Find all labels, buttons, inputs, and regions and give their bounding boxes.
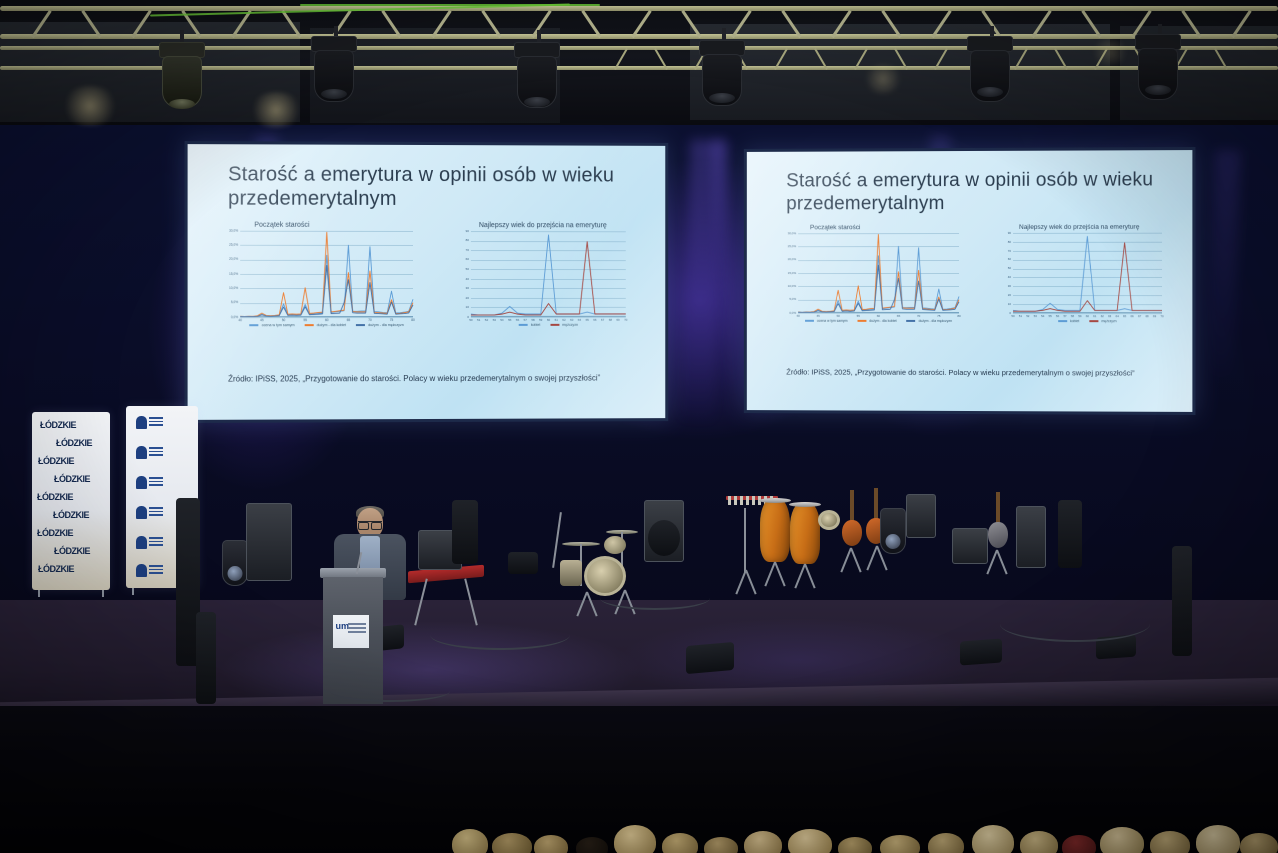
chart-x-tick: 58 (531, 318, 534, 322)
chart-y-tick: 20,0% (229, 257, 238, 261)
chart-x-tick: 45 (260, 318, 264, 322)
chart-x-tick: 60 (325, 318, 329, 322)
chart-y-tick: 80 (466, 238, 469, 242)
conga-drum (790, 502, 820, 564)
light-glow (248, 92, 304, 128)
chart-legend: kobietmężczyzn (471, 323, 626, 327)
chart-legend-item: kobiet (519, 323, 540, 327)
legend-swatch (250, 324, 259, 326)
chart-x-tick: 70 (1160, 314, 1163, 318)
chart-series-group (471, 231, 626, 317)
chart-x-tick: 70 (624, 318, 627, 322)
chart-x-tick: 52 (485, 318, 488, 322)
chart-y-tick: 20 (1008, 293, 1011, 297)
chart-x-tick: 56 (1056, 314, 1059, 318)
audience-head (704, 837, 738, 853)
chart-x-tick: 65 (1123, 314, 1126, 318)
chart-y-tick: 60 (1008, 257, 1011, 261)
lodzkie-logo: ŁÓDZKIE (37, 492, 73, 502)
audience-head (928, 833, 964, 853)
chart-legend-item: kobiet (1058, 319, 1079, 323)
chart-series-line (240, 245, 413, 316)
chart-x-tick: 54 (1041, 314, 1044, 318)
amplifier-stack (952, 528, 988, 564)
chart-y-tick: 10,0% (229, 286, 238, 290)
chart-title: Najlepszy wiek do przejścia na emeryturę (479, 222, 607, 229)
chart-x-tick: 68 (1145, 314, 1148, 318)
legend-swatch (805, 320, 814, 322)
stage-light-fixture (157, 42, 207, 112)
glasses-icon (358, 521, 382, 527)
chart-y-tick: 5,0% (789, 297, 796, 301)
chart-x-tick: 65 (347, 318, 351, 322)
chart-series-line (240, 265, 413, 316)
timbale (818, 510, 840, 530)
chart-series-group (1013, 233, 1162, 314)
legend-label: dużym - dla kobiet (869, 319, 896, 323)
chart-x-tick: 69 (1153, 314, 1156, 318)
floor-cable (1000, 606, 1150, 642)
chart-x-tick: 80 (411, 318, 415, 322)
legend-swatch (550, 324, 559, 326)
chart-x-tick: 65 (897, 314, 900, 318)
chart-x-tick: 63 (1108, 314, 1111, 318)
chart-y-tick: 5,0% (231, 301, 238, 305)
chart-y-tick: 90 (466, 229, 469, 233)
chart-series-group (798, 233, 959, 313)
university-logo (136, 564, 147, 582)
chart-najlepszy-wiek-right: Najlepszy wiek do przejścia na emeryturę… (1013, 233, 1162, 314)
chart-y-tick: 60 (466, 257, 469, 261)
chart-series-line (798, 265, 959, 312)
chart-x-tick: 65 (586, 318, 589, 322)
chart-x-tick: 58 (1071, 314, 1074, 318)
chart-y-tick: 30,0% (788, 231, 796, 235)
audience-head (1020, 831, 1058, 853)
guitar-body (988, 522, 1008, 548)
chart-plot-area: 9080706050403020100505152535455565758596… (471, 231, 626, 317)
chart-legend-item: dużym - dla mężczyzn (907, 319, 952, 323)
audience-head (838, 837, 872, 853)
moving-head-light (880, 508, 906, 554)
legend-swatch (857, 320, 866, 322)
stage-light-fixture (1135, 34, 1181, 98)
chart-x-tick: 64 (1116, 314, 1119, 318)
lodzkie-logo: ŁÓDZKIE (38, 564, 74, 574)
chart-x-tick: 69 (616, 318, 619, 322)
audience-head (576, 837, 608, 853)
stage-monitor (508, 552, 538, 574)
guitar-body (842, 520, 862, 546)
legend-label: kobiet (531, 323, 541, 327)
legend-label: dużym - dla kobiet (317, 323, 346, 327)
stage-light-fixture (967, 36, 1013, 100)
chart-poczatek-starosci-left: Początek starości 30,0%25,0%20,0%15,0%10… (240, 231, 413, 317)
audience-head (880, 835, 920, 853)
chart-x-tick: 63 (570, 318, 573, 322)
chart-x-tick: 80 (957, 314, 960, 318)
flight-case (906, 494, 936, 538)
legend-label: mężczyzn (1101, 319, 1116, 323)
legend-label: ocena w tym samym (262, 323, 295, 327)
projection-screen-left: Starość a emerytura w opinii osób w wiek… (185, 141, 669, 423)
legend-swatch (356, 324, 365, 326)
chart-x-tick: 54 (500, 318, 503, 322)
chart-x-tick: 70 (917, 314, 920, 318)
chart-legend-item: mężczyzn (1089, 319, 1116, 323)
audience-head (492, 833, 532, 853)
chart-y-tick: 70 (1008, 249, 1011, 253)
slide-right: Starość a emerytura w opinii osób w wiek… (747, 150, 1193, 412)
chart-y-tick: 10 (466, 305, 469, 309)
chart-title: Początek starości (254, 222, 309, 229)
audience-head (1196, 825, 1240, 853)
chart-y-tick: 30,0% (229, 229, 238, 233)
chart-y-tick: 70 (466, 248, 469, 252)
chart-x-tick: 51 (477, 318, 480, 322)
chart-y-tick: 90 (1008, 231, 1011, 235)
legend-swatch (907, 320, 916, 322)
chart-series-line (798, 234, 959, 312)
chart-legend: kobietmężczyzn (1013, 319, 1162, 323)
lodzkie-logo: ŁÓDZKIE (37, 528, 73, 538)
chart-x-tick: 70 (368, 318, 372, 322)
chart-x-tick: 57 (524, 318, 527, 322)
moving-head-light (222, 540, 248, 586)
rig-cable (300, 4, 600, 6)
chart-x-tick: 68 (609, 318, 612, 322)
flight-case (246, 503, 292, 581)
rack-tom (604, 536, 626, 554)
chart-x-tick: 53 (1034, 314, 1037, 318)
chart-x-tick: 60 (1086, 314, 1089, 318)
chart-y-tick: 15,0% (788, 271, 796, 275)
chart-x-tick: 67 (1138, 314, 1141, 318)
chart-y-tick: 0,0% (231, 315, 238, 319)
chart-y-tick: 40 (466, 277, 469, 281)
chart-x-tick: 59 (1078, 314, 1081, 318)
audience-head (452, 829, 488, 853)
chart-legend-item: dużym - dla kobiet (857, 319, 896, 323)
conference-stage-photo: Starość a emerytura w opinii osób w wiek… (0, 0, 1278, 853)
university-logo (136, 536, 147, 554)
chart-series-line (798, 246, 959, 312)
university-logo (136, 506, 147, 524)
slide-source-note: Źródło: IPiSS, 2025, „Przygotowanie do s… (228, 374, 600, 384)
stage-light-fixture (514, 42, 560, 110)
lodzkie-logo: ŁÓDZKIE (38, 456, 74, 466)
chart-x-tick: 60 (877, 314, 880, 318)
pa-speaker (452, 500, 478, 564)
lighting-truss-front (0, 6, 1278, 40)
floor-cable (600, 586, 710, 610)
chart-legend: ocena w tym samymdużym - dla kobietdużym… (798, 319, 959, 323)
audience-head (1150, 831, 1190, 853)
legend-label: kobiet (1070, 319, 1079, 323)
slide-title: Starość a emerytura w opinii osób w wiek… (786, 168, 1166, 215)
chart-legend-item: ocena w tym samym (250, 323, 295, 327)
chart-y-tick: 50 (466, 267, 469, 271)
chart-legend-item: dużym - dla kobiet (305, 323, 346, 327)
podium-logo-plate: um (333, 615, 369, 648)
chart-x-tick: 55 (1049, 314, 1052, 318)
chart-x-tick: 52 (1026, 314, 1029, 318)
university-logo (136, 416, 147, 434)
chart-x-tick: 55 (857, 314, 860, 318)
chart-y-tick: 0,0% (789, 311, 796, 315)
chart-x-tick: 75 (937, 314, 940, 318)
chart-y-tick: 50 (1008, 266, 1011, 270)
chart-y-tick: 20 (466, 296, 469, 300)
floor-cable (430, 620, 570, 650)
audience (0, 783, 1278, 853)
chart-x-tick: 50 (469, 318, 472, 322)
chart-x-tick: 55 (303, 318, 307, 322)
chart-x-tick: 50 (1011, 314, 1014, 318)
chart-x-tick: 56 (516, 318, 519, 322)
stage-monitor (960, 639, 1002, 666)
audience-head (1100, 827, 1144, 853)
audience-head (1240, 833, 1278, 853)
light-glow (862, 64, 904, 94)
chart-plot-area: 30,0%25,0%20,0%15,0%10,0%5,0%0,0%4045505… (240, 231, 413, 317)
legend-label: dużym - dla mężczyzn (368, 323, 404, 327)
chart-legend: ocena w tym samymdużym - dla kobietdużym… (240, 323, 413, 327)
audience-head (1062, 835, 1096, 853)
slide-title: Starość a emerytura w opinii osób w wiek… (228, 162, 628, 212)
audience-head (788, 829, 832, 853)
university-logo (136, 476, 147, 494)
amp-speaker (648, 520, 680, 556)
guitar-neck (850, 490, 854, 524)
chart-title: Najlepszy wiek do przejścia na emeryturę (1019, 224, 1139, 231)
chart-y-tick: 15,0% (229, 272, 238, 276)
chart-legend-item: dużym - dla mężczyzn (356, 323, 404, 327)
lodzkie-logo: ŁÓDZKIE (53, 510, 89, 520)
chart-x-tick: 67 (601, 318, 604, 322)
chart-y-tick: 40 (1008, 275, 1011, 279)
chart-x-tick: 50 (837, 314, 840, 318)
guitar-neck (996, 492, 1000, 526)
chart-plot-area: 30,0%25,0%20,0%15,0%10,0%5,0%0,0%4045505… (798, 233, 959, 313)
chart-x-tick: 62 (562, 318, 565, 322)
chart-y-tick: 25,0% (788, 244, 796, 248)
slide-left: Starość a emerytura w opinii osób w wiek… (188, 144, 666, 420)
audience-head (744, 831, 782, 853)
chart-x-tick: 66 (593, 318, 596, 322)
chart-x-tick: 40 (796, 314, 799, 318)
chart-y-tick: 10 (1008, 302, 1011, 306)
chart-legend-item: mężczyzn (550, 323, 578, 327)
conga-rim (759, 498, 791, 503)
chart-poczatek-starosci-right: Początek starości 30,0%25,0%20,0%15,0%10… (798, 233, 959, 313)
lodzkie-logo: ŁÓDZKIE (54, 474, 90, 484)
pa-speaker (1172, 546, 1192, 656)
light-glow (60, 86, 120, 126)
pa-speaker (196, 612, 216, 704)
chart-y-tick: 25,0% (229, 243, 238, 247)
chart-title: Początek starości (810, 224, 860, 231)
vibraphone-stand (744, 508, 746, 572)
light-glow (1090, 38, 1130, 66)
audience-head (614, 825, 656, 853)
chart-y-tick: 20,0% (788, 258, 796, 262)
chart-series-line (1013, 236, 1162, 311)
chart-x-tick: 55 (508, 318, 511, 322)
floor-cable (330, 680, 450, 702)
stage-monitor (686, 642, 734, 674)
chart-x-tick: 60 (547, 318, 550, 322)
chart-x-tick: 51 (1019, 314, 1022, 318)
chart-x-tick: 66 (1130, 314, 1133, 318)
legend-label: dużym - dla mężczyzn (919, 319, 952, 323)
chart-y-tick: 30 (1008, 284, 1011, 288)
stage-light-fixture (311, 36, 357, 102)
projection-screen-right: Starość a emerytura w opinii osób w wiek… (744, 147, 1196, 415)
legend-label: mężczyzn (562, 323, 578, 327)
chart-series-line (471, 242, 626, 315)
chart-x-tick: 53 (493, 318, 496, 322)
lodzkie-logo: ŁÓDZKIE (40, 420, 76, 430)
chart-x-tick: 64 (578, 318, 581, 322)
um-logo: um (335, 621, 349, 631)
chart-x-tick: 61 (555, 318, 558, 322)
pa-speaker (1058, 500, 1082, 568)
audience-head (972, 825, 1014, 853)
banner-lodzkie: ŁÓDZKIE ŁÓDZKIE ŁÓDZKIE ŁÓDZKIE ŁÓDZKIE … (32, 412, 110, 590)
audience-head (662, 833, 698, 853)
lodzkie-logo: ŁÓDZKIE (54, 546, 90, 556)
chart-series-line (471, 235, 626, 315)
chart-plot-area: 9080706050403020100505152535455565758596… (1013, 233, 1162, 314)
chart-x-tick: 50 (282, 318, 286, 322)
chart-series-line (240, 232, 413, 316)
chart-series-line (1013, 243, 1162, 312)
chart-najlepszy-wiek-left: Najlepszy wiek do przejścia na emeryturę… (471, 231, 626, 317)
chart-y-tick: 10,0% (788, 284, 796, 288)
chart-x-tick: 40 (238, 318, 242, 322)
guitar-neck (874, 488, 878, 522)
podium-logo-lines (348, 623, 366, 635)
conga-rim (789, 502, 821, 507)
conga-drum (760, 498, 790, 562)
chart-y-tick: 30 (466, 286, 469, 290)
chart-series-group (240, 231, 413, 317)
legend-swatch (1089, 320, 1098, 322)
slide-source-note: Źródło: IPiSS, 2025, „Przygotowanie do s… (786, 367, 1134, 377)
lodzkie-logo: ŁÓDZKIE (56, 438, 92, 448)
chart-x-tick: 75 (390, 318, 394, 322)
chart-x-tick: 62 (1101, 314, 1104, 318)
chart-legend-item: ocena w tym samym (805, 319, 847, 323)
chart-y-tick: 80 (1008, 240, 1011, 244)
chart-x-tick: 57 (1063, 314, 1066, 318)
floor-tom (560, 560, 582, 586)
legend-swatch (1058, 320, 1067, 322)
chart-x-tick: 59 (539, 318, 542, 322)
university-logo (136, 446, 147, 464)
legend-swatch (305, 324, 314, 326)
stage-light-fixture (699, 40, 745, 106)
chart-x-tick: 45 (816, 314, 819, 318)
amplifier-cabinet (1016, 506, 1046, 568)
chart-x-tick: 61 (1093, 314, 1096, 318)
legend-label: ocena w tym samym (817, 319, 848, 323)
audience-head (534, 835, 568, 853)
legend-swatch (519, 324, 528, 326)
